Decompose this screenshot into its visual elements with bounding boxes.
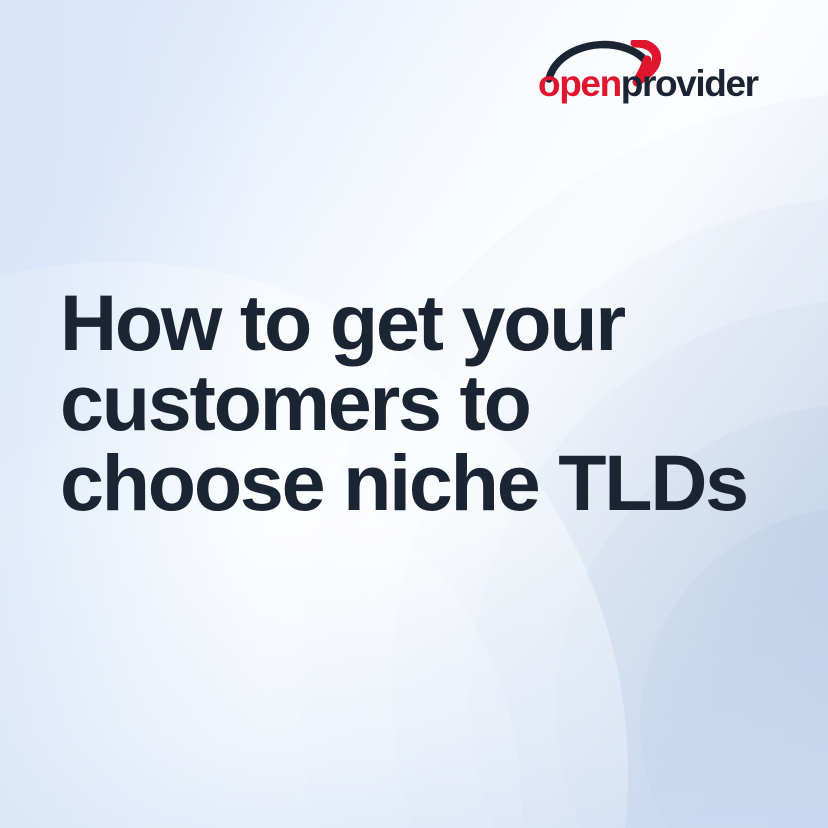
- openprovider-logo[interactable]: openprovider: [538, 40, 770, 110]
- page-title: How to get your customers to choose nich…: [60, 283, 800, 523]
- logo-word-open: open: [538, 63, 621, 104]
- page-title-line-3: choose niche TLDs: [60, 443, 800, 523]
- social-card: openprovider How to get your customers t…: [0, 0, 828, 828]
- logo-word-provider: provider: [621, 63, 758, 104]
- page-title-line-2: customers to: [60, 363, 800, 443]
- page-title-line-1: How to get your: [60, 283, 800, 363]
- logo-wordmark: openprovider: [538, 62, 770, 106]
